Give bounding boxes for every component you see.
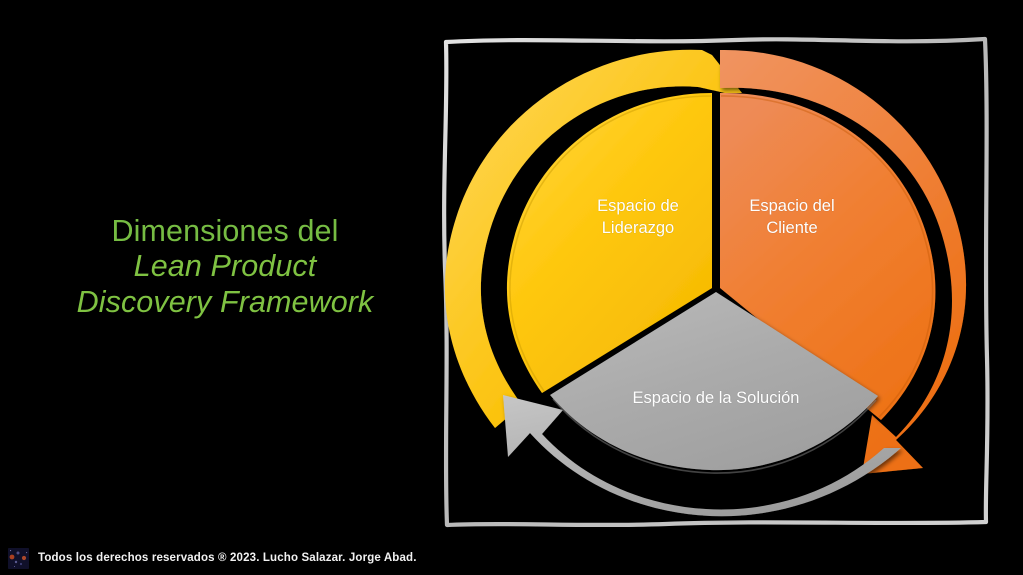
- title-line-3: Discovery Framework: [40, 285, 410, 320]
- copyright-text: Todos los derechos reservados ® 2023. Lu…: [38, 552, 417, 564]
- company-thumbnail-logo-icon: [8, 548, 29, 569]
- segment-label-leadership: Espacio de Liderazgo: [558, 196, 718, 240]
- footer-bar: Todos los derechos reservados ® 2023. Lu…: [0, 541, 1023, 575]
- cycle-diagram-svg: [444, 38, 986, 523]
- title-line-2: Lean Product: [40, 249, 410, 284]
- segment-label-customer: Espacio del Cliente: [712, 196, 872, 240]
- logo-artwork: [8, 548, 29, 569]
- slide-canvas: Dimensiones del Lean Product Discovery F…: [0, 0, 1023, 575]
- title-line-1: Dimensiones del: [40, 214, 410, 249]
- page-title: Dimensiones del Lean Product Discovery F…: [40, 214, 410, 320]
- segment-label-solution: Espacio de la Solución: [576, 388, 856, 410]
- cycle-diagram: Espacio de Liderazgo Espacio del Cliente…: [444, 38, 986, 523]
